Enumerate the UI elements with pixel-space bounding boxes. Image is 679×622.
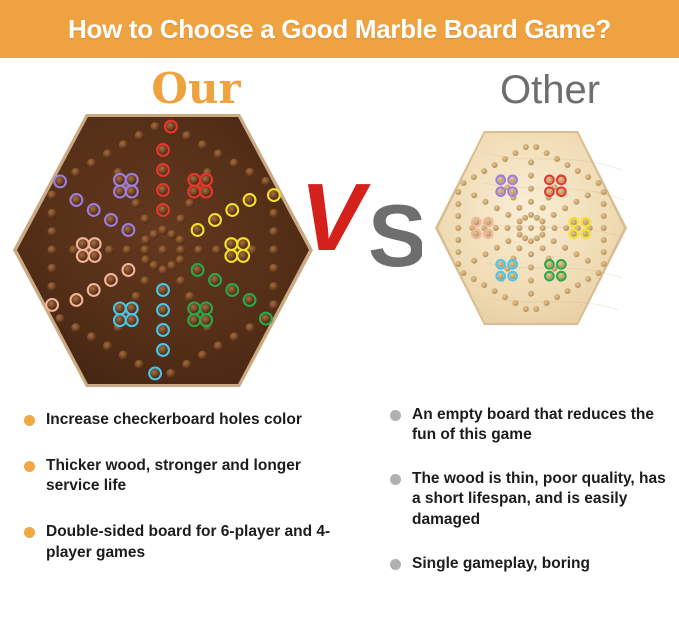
bullet-dot-icon: [24, 527, 35, 538]
benefits-list-our: Increase checkerboard holes color Thicke…: [24, 410, 344, 589]
bullet-dot-icon: [24, 415, 35, 426]
list-item: An empty board that reduces the fun of t…: [390, 405, 670, 445]
versus-graphic: S V: [302, 168, 422, 278]
bullet-dot-icon: [24, 461, 35, 472]
board-image-other: [432, 128, 630, 328]
list-item-label: Increase checkerboard holes color: [46, 410, 302, 430]
column-heading-our: Our: [96, 68, 296, 110]
list-item-label: An empty board that reduces the fun of t…: [412, 405, 670, 445]
list-item: Increase checkerboard holes color: [24, 410, 344, 430]
list-item-label: The wood is thin, poor quality, has a sh…: [412, 469, 670, 529]
list-item-label: Thicker wood, stronger and longer servic…: [46, 456, 344, 496]
list-item: The wood is thin, poor quality, has a sh…: [390, 469, 670, 529]
list-item: Double-sided board for 6-player and 4-pl…: [24, 522, 344, 562]
comparison-infographic: How to Choose a Good Marble Board Game? …: [0, 0, 679, 622]
page-title: How to Choose a Good Marble Board Game?: [68, 14, 611, 45]
column-heading-other: Other: [450, 70, 650, 110]
list-item-label: Double-sided board for 6-player and 4-pl…: [46, 522, 344, 562]
bullet-dot-icon: [390, 474, 401, 485]
bullet-dot-icon: [390, 410, 401, 421]
list-item: Single gameplay, boring: [390, 554, 670, 574]
header-banner: How to Choose a Good Marble Board Game?: [0, 0, 679, 58]
bullet-dot-icon: [390, 559, 401, 570]
board-image-our: [8, 108, 318, 393]
list-item-label: Single gameplay, boring: [412, 554, 590, 574]
list-item: Thicker wood, stronger and longer servic…: [24, 456, 344, 496]
versus-s-letter: S: [368, 186, 422, 278]
drawbacks-list-other: An empty board that reduces the fun of t…: [390, 405, 670, 598]
